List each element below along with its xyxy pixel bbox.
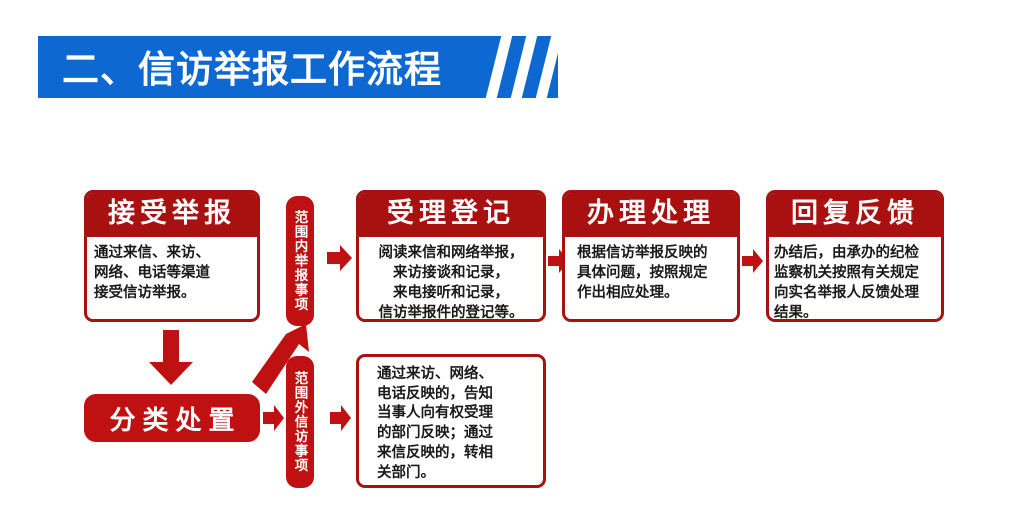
arrow-inscope-to-accept bbox=[327, 243, 353, 273]
flow-box-handle-process: 办理处理 根据信访举报反映的 具体问题，按照规定 作出相应处理。 bbox=[562, 190, 740, 322]
flow-box-accept-register: 受理登记 阅读来信和网络举报， 来访接谈和记录， 来电接听和记录， 信访举报件的… bbox=[356, 190, 546, 322]
arrow-classify-to-outscope bbox=[263, 404, 285, 432]
flow-box-accept-register-header: 受理登记 bbox=[359, 193, 543, 237]
flow-box-receive-report-body: 通过来信、来访、 网络、电话等渠道 接受信访举报。 bbox=[87, 237, 257, 307]
flow-box-out-of-scope-handling: 通过来访、网络、 电话反映的，告知 当事人向有权受理 的部门反映；通过 来信反映… bbox=[356, 354, 546, 488]
slide-title: 二、信访举报工作流程 bbox=[62, 39, 442, 93]
arrow-handle-to-reply bbox=[742, 248, 764, 274]
slide-canvas: 二、信访举报工作流程 接受举报 通过来信、来访、 网络、电话等渠道 接受信访举报… bbox=[0, 0, 1020, 521]
flow-box-handle-process-header: 办理处理 bbox=[565, 193, 737, 237]
arrow-receive-to-classify bbox=[148, 330, 194, 386]
flow-pill-classify-dispose-text: 分类处置 bbox=[109, 400, 241, 437]
arrow-outscope-to-box bbox=[330, 404, 352, 432]
flow-label-in-scope: 范围内举报事项 bbox=[286, 196, 314, 326]
flow-box-reply-feedback: 回复反馈 办结后，由承办的纪检 监察机关按照有关规定 向实名举报人反馈处理 结果… bbox=[766, 190, 944, 322]
slide-header-banner: 二、信访举报工作流程 bbox=[38, 36, 558, 98]
flow-box-handle-process-body: 根据信访举报反映的 具体问题，按照规定 作出相应处理。 bbox=[565, 237, 737, 307]
flow-box-reply-feedback-header: 回复反馈 bbox=[769, 193, 941, 237]
flow-box-receive-report-header: 接受举报 bbox=[87, 193, 257, 237]
flow-label-in-scope-text: 范围内举报事项 bbox=[292, 210, 307, 312]
flow-box-out-of-scope-handling-body: 通过来访、网络、 电话反映的，告知 当事人向有权受理 的部门反映；通过 来信反映… bbox=[359, 357, 543, 487]
flow-pill-classify-dispose: 分类处置 bbox=[84, 394, 260, 442]
flow-box-receive-report: 接受举报 通过来信、来访、 网络、电话等渠道 接受信访举报。 bbox=[84, 190, 260, 322]
flow-box-accept-register-body: 阅读来信和网络举报， 来访接谈和记录， 来电接听和记录， 信访举报件的登记等。 bbox=[359, 237, 543, 322]
flow-label-out-of-scope: 范围外信访事项 bbox=[286, 356, 314, 488]
flow-label-out-of-scope-text: 范围外信访事项 bbox=[292, 371, 307, 473]
flow-box-reply-feedback-body: 办结后，由承办的纪检 监察机关按照有关规定 向实名举报人反馈处理 结果。 bbox=[769, 237, 941, 322]
